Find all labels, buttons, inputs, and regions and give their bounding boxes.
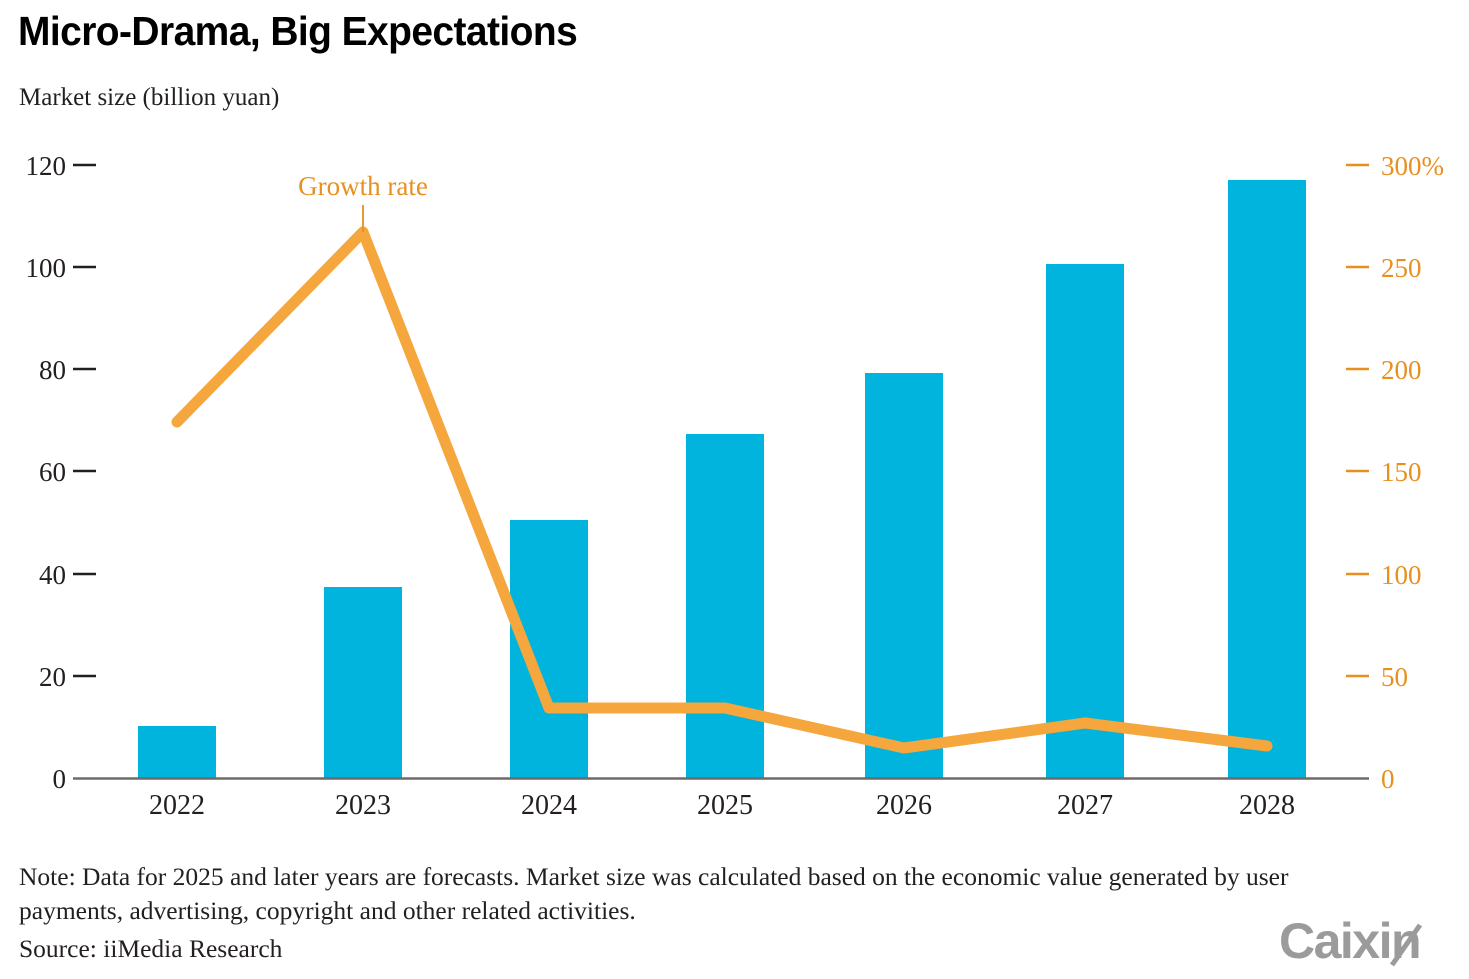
caixin-logo: Caixin [1279,913,1455,969]
bar-2023[interactable] [324,587,402,778]
y-axis-left-label-40: 40 [39,560,66,590]
caixin-logo-text: Caixin [1279,913,1420,969]
bar-2027[interactable] [1046,264,1124,778]
y-axis-right-label-50: 50 [1381,662,1408,692]
y-axis-right-label-250: 250 [1381,253,1422,283]
y-axis-right-tick-group [1346,165,1369,676]
x-axis-label-2025: 2025 [697,790,753,821]
bar-2026[interactable] [865,373,943,778]
y-axis-right-label-300: 300% [1381,151,1444,181]
growth-rate-annotation-label: Growth rate [298,171,428,201]
x-axis-label-2023: 2023 [335,790,391,821]
y-axis-left: 120 100 80 60 40 20 0 [26,151,97,794]
chart-plot-area: 120 100 80 60 40 20 0 300% 250 [0,0,1469,979]
y-axis-left-label-100: 100 [26,253,67,283]
bar-2028[interactable] [1228,180,1306,778]
footnote-note: Note: Data for 2025 and later years are … [19,860,1379,928]
y-axis-left-label-60: 60 [39,457,66,487]
y-axis-right-label-200: 200 [1381,355,1422,385]
x-axis-label-2028: 2028 [1239,790,1295,821]
bar-series-market-size [138,180,1306,778]
x-axis-label-2024: 2024 [521,790,577,821]
footnotes: Note: Data for 2025 and later years are … [19,860,1389,966]
footnote-source: Source: iiMedia Research [19,932,1389,966]
growth-rate-annotation-group: Growth rate [298,171,428,232]
x-axis-labels: 2022 2023 2024 2025 2026 2027 2028 [149,790,1295,821]
x-axis-label-2026: 2026 [876,790,932,821]
y-axis-left-tick-group [73,165,96,676]
chart-page: Micro-Drama, Big Expectations Market siz… [0,0,1469,979]
y-axis-right-label-150: 150 [1381,457,1422,487]
y-axis-left-label-120: 120 [26,151,67,181]
y-axis-right-label-100: 100 [1381,560,1422,590]
bar-2025[interactable] [686,434,764,778]
y-axis-left-label-20: 20 [39,662,66,692]
x-axis-label-2022: 2022 [149,790,205,821]
y-axis-right-label-0: 0 [1381,764,1395,794]
y-axis-right: 300% 250 200 150 100 50 0 [1346,151,1444,794]
chart-svg: 120 100 80 60 40 20 0 300% 250 [0,0,1469,979]
y-axis-left-label-80: 80 [39,355,66,385]
bar-2022[interactable] [138,726,216,778]
y-axis-left-label-0: 0 [53,764,67,794]
x-axis-label-2027: 2027 [1057,790,1113,821]
